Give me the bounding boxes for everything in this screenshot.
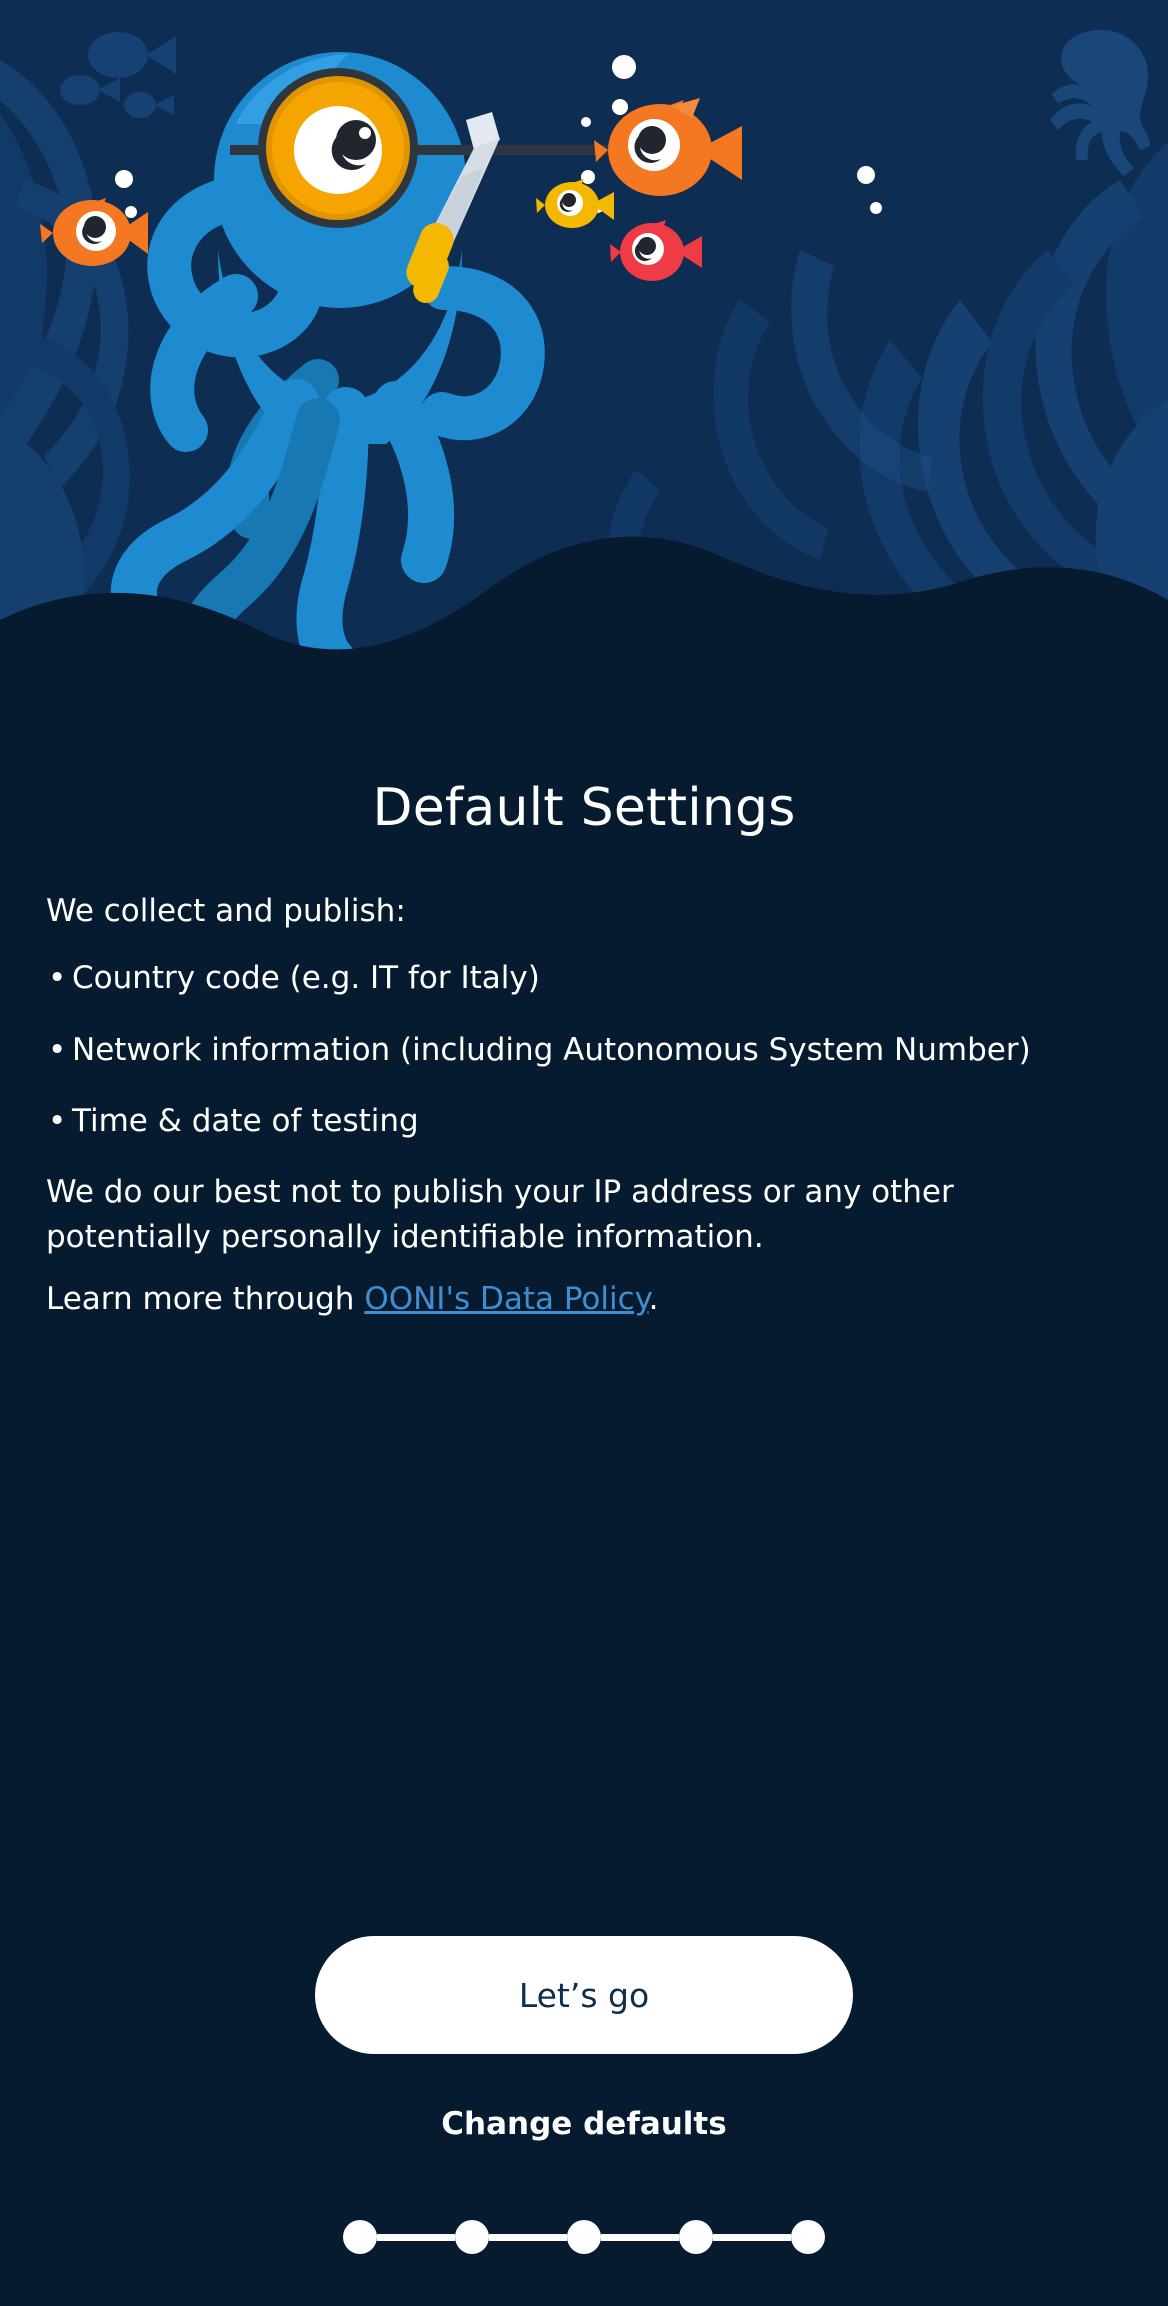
- content-area: Default Settings We collect and publish:…: [0, 740, 1168, 2306]
- progress-bar-2-3: [489, 2234, 567, 2241]
- policy-suffix: .: [649, 1281, 659, 1317]
- progress-dot-1[interactable]: [343, 2220, 377, 2254]
- onboarding-progress-indicator: [343, 2220, 825, 2254]
- page-title: Default Settings: [0, 780, 1168, 837]
- progress-dot-3[interactable]: [567, 2220, 601, 2254]
- progress-dot-2[interactable]: [455, 2220, 489, 2254]
- change-defaults-button[interactable]: Change defaults: [429, 2100, 738, 2148]
- ooni-octopus-illustration: [0, 0, 1168, 740]
- progress-bar-1-2: [377, 2234, 455, 2241]
- progress-dot-5[interactable]: [791, 2220, 825, 2254]
- policy-line: Learn more through OONI's Data Policy.: [46, 1277, 1122, 1322]
- list-item: Time & date of testing: [46, 1099, 1122, 1144]
- data-policy-link[interactable]: OONI's Data Policy: [364, 1281, 648, 1317]
- progress-dot-4[interactable]: [679, 2220, 713, 2254]
- hero-illustration: [0, 0, 1168, 740]
- progress-bar-4-5: [713, 2234, 791, 2241]
- progress-bar-3-4: [601, 2234, 679, 2241]
- lets-go-button[interactable]: Let’s go: [315, 1936, 853, 2054]
- list-item: Country code (e.g. IT for Italy): [46, 956, 1122, 1001]
- collected-data-list: Country code (e.g. IT for Italy) Network…: [46, 956, 1122, 1144]
- actions-area: Let’s go Change defaults: [0, 1936, 1168, 2306]
- intro-text: We collect and publish:: [46, 889, 1122, 934]
- policy-prefix: Learn more through: [46, 1281, 364, 1317]
- privacy-paragraph: We do our best not to publish your IP ad…: [46, 1170, 1122, 1261]
- body-copy: We collect and publish: Country code (e.…: [46, 889, 1122, 1338]
- onboarding-screen: Default Settings We collect and publish:…: [0, 0, 1168, 2306]
- list-item: Network information (including Autonomou…: [46, 1028, 1122, 1073]
